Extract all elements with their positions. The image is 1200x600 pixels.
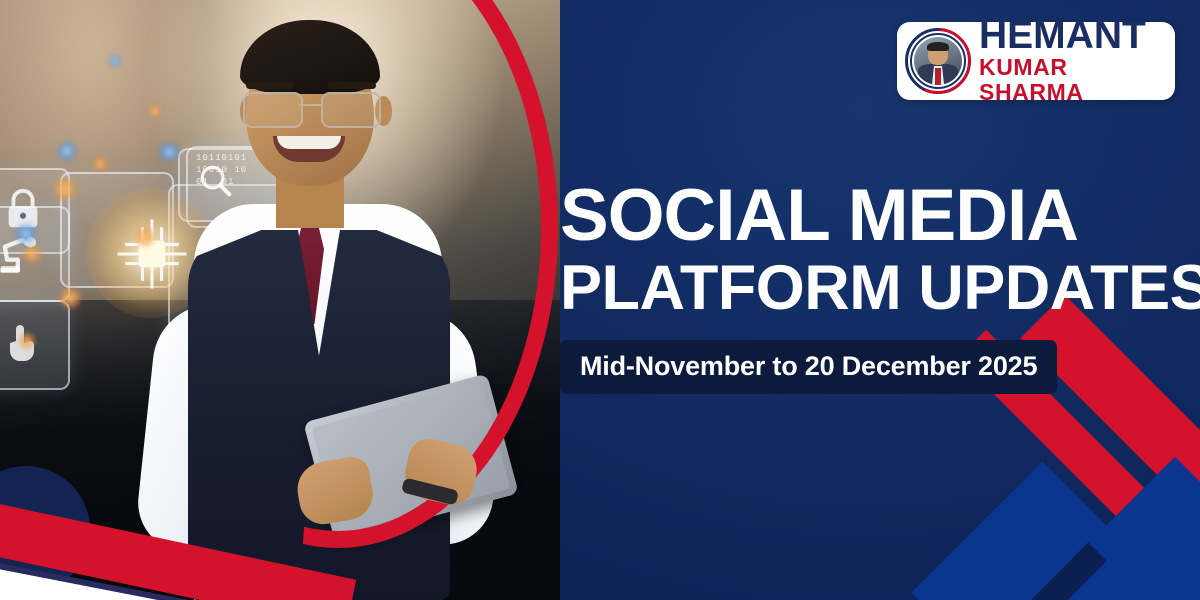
logo-first-name: HEMANT: [979, 17, 1175, 55]
title-line-2: PLATFORM UPDATES: [560, 254, 1180, 322]
social-media-updates-banner: 10110101 10010 10 01 01: [0, 0, 1200, 600]
title-line-1: SOCIAL MEDIA: [560, 178, 1180, 254]
date-range-badge: Mid-November to 20 December 2025: [560, 340, 1057, 394]
bokeh-dot: [22, 244, 42, 264]
bokeh-dot: [58, 286, 82, 310]
logo-portrait-mark: [905, 28, 971, 94]
logo-wordmark: HEMANT KUMAR SHARMA: [979, 17, 1175, 105]
bokeh-dot: [56, 140, 78, 162]
lens-left: [243, 92, 303, 128]
bokeh-dot: [14, 222, 38, 246]
bokeh-dot: [18, 332, 36, 350]
logo-last-name: KUMAR SHARMA: [979, 55, 1175, 105]
headline-block: SOCIAL MEDIA PLATFORM UPDATES Mid-Novemb…: [560, 178, 1180, 394]
date-range-text: Mid-November to 20 December 2025: [580, 351, 1037, 381]
glasses-bridge: [299, 104, 321, 106]
brand-logo-badge[interactable]: HEMANT KUMAR SHARMA: [897, 22, 1175, 100]
eyebrow-left: [246, 82, 294, 89]
bokeh-dot: [52, 176, 78, 202]
bokeh-dot: [92, 156, 108, 172]
